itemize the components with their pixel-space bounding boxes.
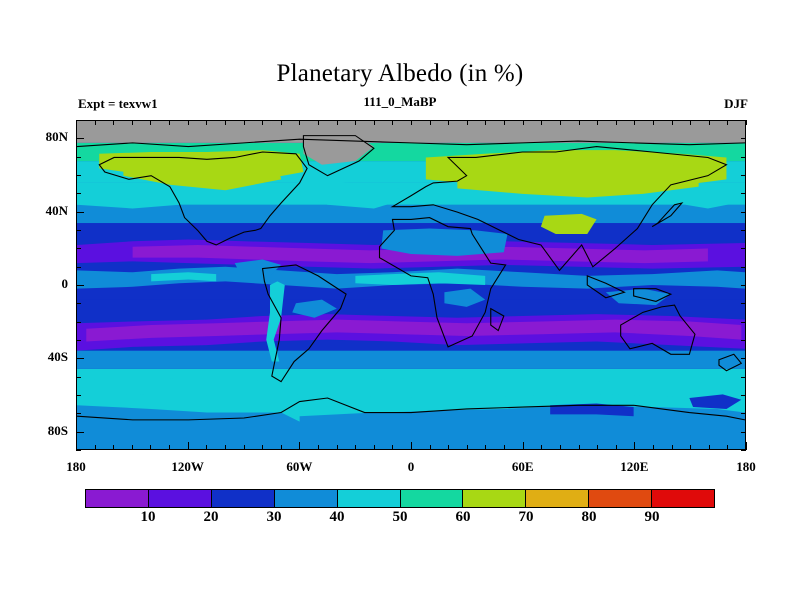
colorbar-band-0 bbox=[86, 490, 149, 507]
x-axis-label-6: 180 bbox=[716, 459, 776, 475]
colorbar-band-2 bbox=[212, 490, 275, 507]
y-axis-label-1: 40N bbox=[22, 203, 68, 219]
colorbar-band-4 bbox=[338, 490, 401, 507]
y-axis-label-3: 40S bbox=[22, 349, 68, 365]
colorbar-tick-label-5: 60 bbox=[443, 509, 483, 526]
albedo-contour-field bbox=[77, 121, 745, 449]
colorbar-band-1 bbox=[149, 490, 212, 507]
colorbar-tick-label-0: 10 bbox=[128, 509, 168, 526]
colorbar-band-7 bbox=[526, 490, 589, 507]
colorbar-tick-label-8: 90 bbox=[632, 509, 672, 526]
experiment-label: Expt = texvw1 bbox=[78, 96, 158, 112]
colorbar-band-8 bbox=[589, 490, 652, 507]
x-axis-label-2: 60W bbox=[269, 459, 329, 475]
colorbar bbox=[85, 489, 715, 508]
colorbar-band-6 bbox=[463, 490, 526, 507]
colorbar-tick-label-1: 20 bbox=[191, 509, 231, 526]
albedo-map-plot bbox=[76, 120, 746, 450]
y-axis-label-2: 0 bbox=[22, 276, 68, 292]
season-label: DJF bbox=[724, 96, 748, 112]
y-axis-label-0: 80N bbox=[22, 129, 68, 145]
x-axis-label-1: 120W bbox=[158, 459, 218, 475]
x-axis-label-0: 180 bbox=[46, 459, 106, 475]
colorbar-tick-label-3: 40 bbox=[317, 509, 357, 526]
colorbar-band-9 bbox=[652, 490, 714, 507]
y-axis-label-4: 80S bbox=[22, 423, 68, 439]
page-title: Planetary Albedo (in %) bbox=[0, 60, 800, 88]
x-axis-label-5: 120E bbox=[604, 459, 664, 475]
x-axis-label-4: 60E bbox=[493, 459, 553, 475]
x-axis-label-3: 0 bbox=[381, 459, 441, 475]
colorbar-band-5 bbox=[401, 490, 464, 507]
colorbar-tick-label-6: 70 bbox=[506, 509, 546, 526]
colorbar-tick-label-2: 30 bbox=[254, 509, 294, 526]
colorbar-tick-label-7: 80 bbox=[569, 509, 609, 526]
colorbar-band-3 bbox=[275, 490, 338, 507]
colorbar-tick-label-4: 50 bbox=[380, 509, 420, 526]
